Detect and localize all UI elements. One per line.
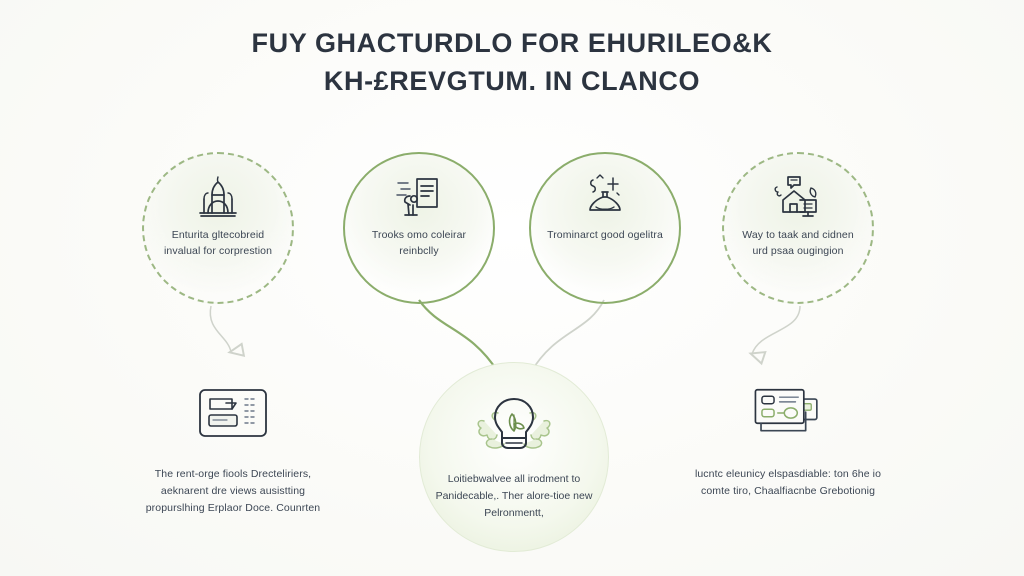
house-leaf-icon	[769, 172, 827, 222]
id-card-icon	[193, 378, 273, 448]
connector-node3-to-hub	[531, 300, 604, 372]
leaf-left[interactable]: The rent-orge fiools Drecteliriers, aekn…	[128, 378, 338, 517]
node-3-caption: Trominarct good ogelitra	[541, 228, 669, 244]
hub-caption: Loitiebwalvee all irodment to Panidecabl…	[433, 471, 595, 521]
document-hand-icon	[390, 172, 448, 222]
leaf-right-caption: lucntc eleunicy elspasdiable: ton 6he io…	[688, 466, 888, 500]
leaf-left-caption: The rent-orge fiools Drecteliriers, aekn…	[133, 466, 333, 517]
node-2[interactable]: Trooks omo coleirar reinbclly	[343, 152, 495, 304]
node-4[interactable]: Way to taak and cidnen urd psaa ougingio…	[722, 152, 874, 304]
node-1-caption: Enturita gltecobreid invalual for corpre…	[154, 228, 282, 260]
connector-node1-to-leaf-left	[210, 306, 231, 352]
hub-center[interactable]: Loitiebwalvee all irodment to Panidecabl…	[419, 362, 609, 552]
title-line-1: FUY GHACTURDLO FOR EHURILEO&K	[0, 24, 1024, 62]
title-line-2: KH-£REVGTUM. IN CLANCO	[0, 62, 1024, 100]
connector-node4-to-leaf-right	[752, 306, 800, 354]
node-1[interactable]: Enturita gltecobreid invalual for corpre…	[142, 152, 294, 304]
node-2-caption: Trooks omo coleirar reinbclly	[355, 228, 483, 260]
screens-window-icon	[748, 378, 828, 448]
page-title: FUY GHACTURDLO FOR EHURILEO&K KH-£REVGTU…	[0, 24, 1024, 101]
lamp-flask-icon	[576, 172, 634, 222]
node-4-caption: Way to taak and cidnen urd psaa ougingio…	[734, 228, 862, 260]
lightbulb-idea-icon	[466, 389, 562, 463]
leaf-right[interactable]: lucntc eleunicy elspasdiable: ton 6he io…	[683, 378, 893, 500]
infographic-canvas: FUY GHACTURDLO FOR EHURILEO&K KH-£REVGTU…	[0, 0, 1024, 576]
node-3[interactable]: Trominarct good ogelitra	[529, 152, 681, 304]
mosque-building-icon	[189, 172, 247, 222]
connector-node2-to-hub	[419, 300, 498, 372]
